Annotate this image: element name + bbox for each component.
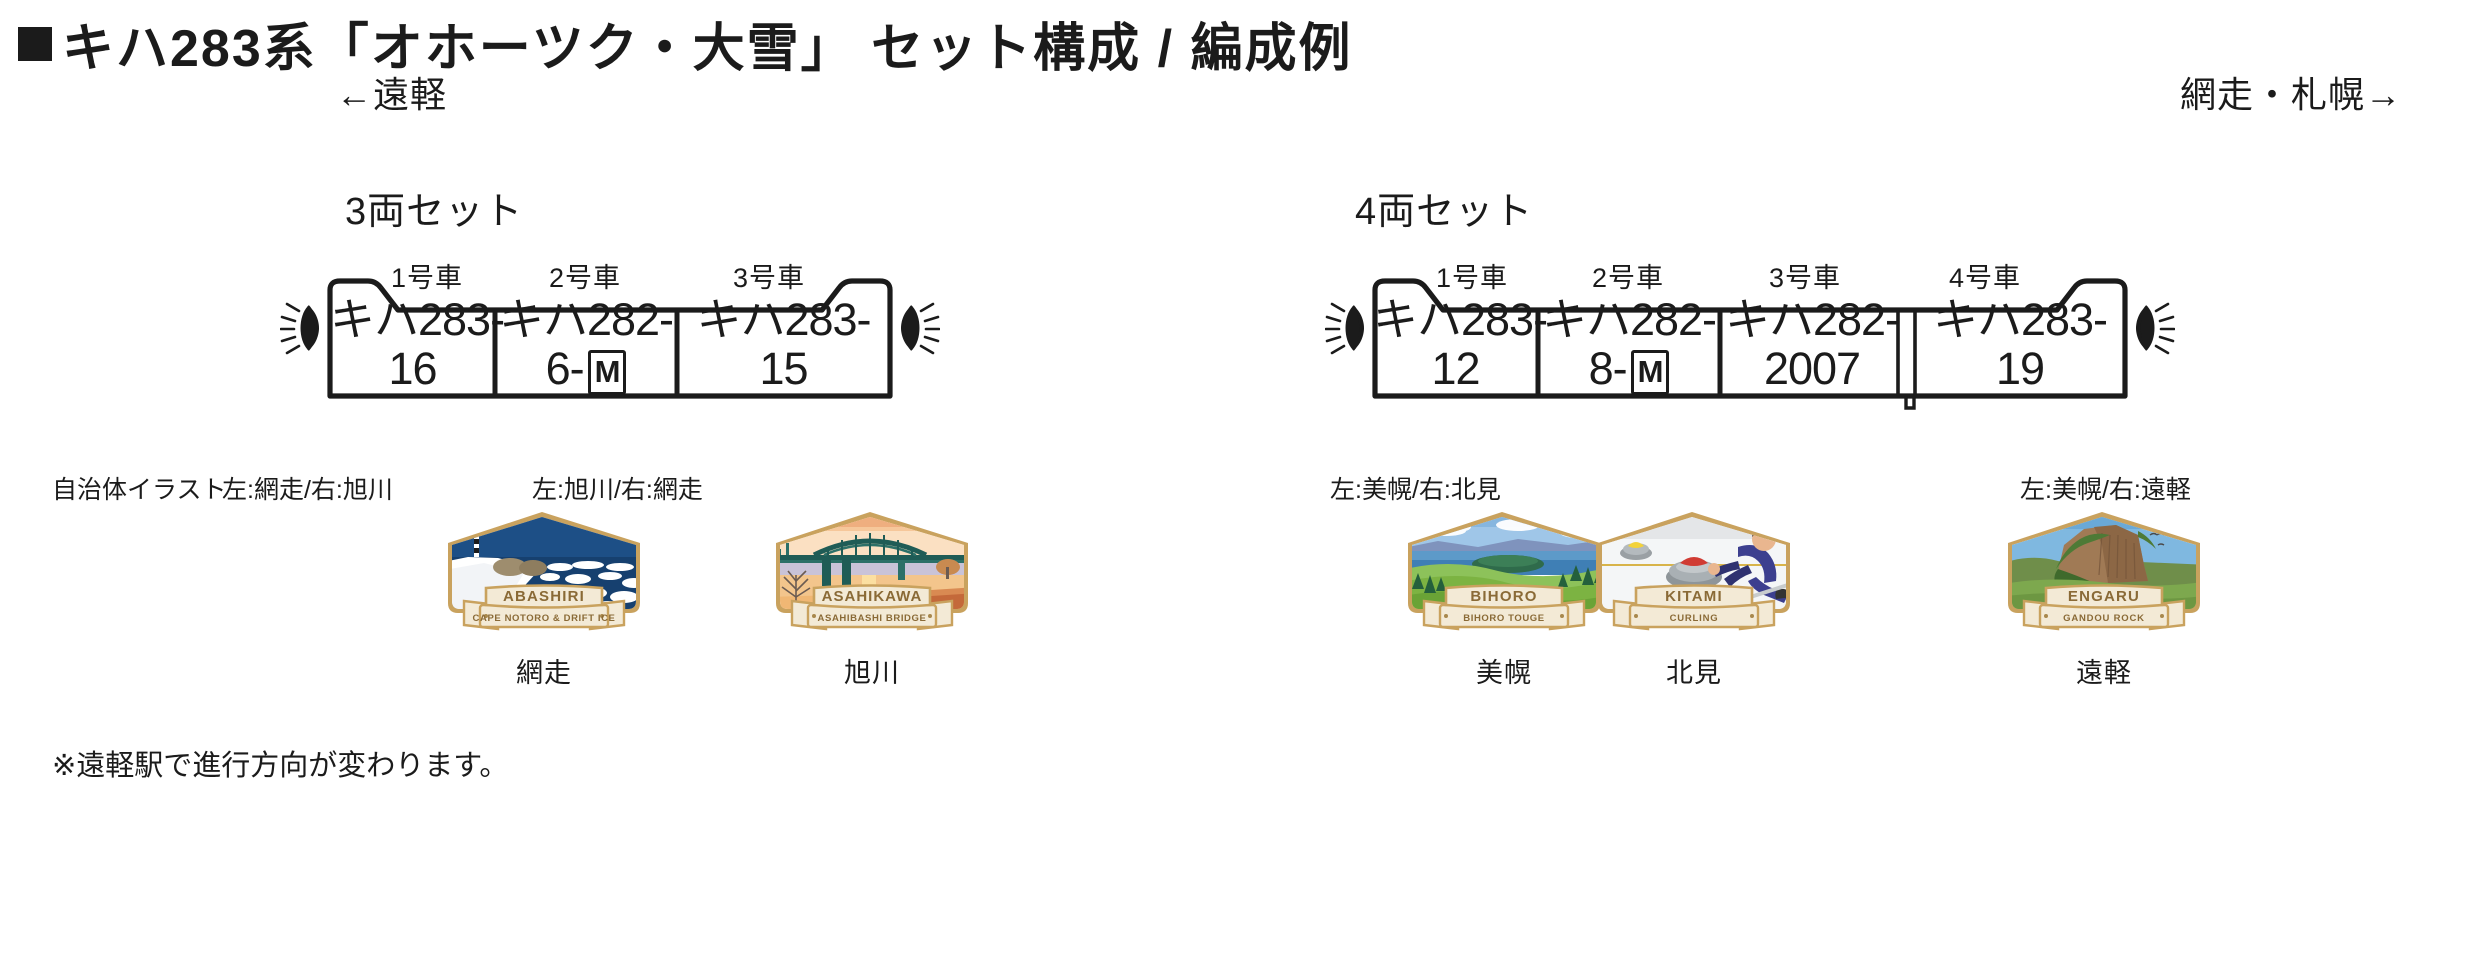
emblem-shield: BIHORO TOUGE BIHORO	[1398, 505, 1610, 640]
emblem-abashiri: CAPE NOTORO & DRIFT ICE ABASHIRI 網走	[438, 505, 650, 640]
car-type-label: キハ283- 15	[677, 296, 890, 393]
set-title-4car: 4両セット	[1355, 180, 1533, 235]
side-label-4: 左:美幌/右:遠軽	[2020, 470, 2191, 506]
emblem-subtitle-en: ASAHIBASHI BRIDGE	[818, 613, 927, 624]
emblem-caption-jp: 網走	[438, 651, 650, 690]
car-serial-number: 6	[546, 343, 570, 394]
car-number-label: 3号車	[1740, 256, 1870, 295]
emblem-artwork: CURLING KITAMI	[1588, 505, 1800, 640]
emblem-caption-jp: 旭川	[766, 651, 978, 690]
side-label-2: 左:旭川/右:網走	[532, 470, 703, 506]
train-diagram-4car: 1号車 2号車 3号車 4号車 キハ283- 12 キハ282- 8-M キハ2…	[1325, 250, 2175, 410]
headlight-icon-left	[281, 304, 319, 353]
car-type-line1: キハ283-	[696, 294, 870, 345]
emblem-artwork: CAPE NOTORO & DRIFT ICE ABASHIRI	[438, 505, 650, 640]
car-number-label: 2号車	[1563, 256, 1693, 295]
car-type-label: キハ282- 8-M	[1538, 296, 1720, 395]
car-serial-line2: 8-M	[1538, 345, 1720, 395]
title-bullet-icon	[18, 27, 52, 61]
headlight-icon-right	[2136, 304, 2174, 353]
emblem-caption-jp: 遠軽	[1998, 651, 2210, 690]
direction-label-left: ←遠軽	[336, 66, 447, 118]
emblem-artwork: GANDOU ROCK ENGARU	[1998, 505, 2210, 640]
car-type-label: キハ282- 6-M	[495, 296, 677, 395]
emblem-engaru: GANDOU ROCK ENGARU 遠軽	[1998, 505, 2210, 640]
title-text: キハ283系「オホーツク・大雪」 セット構成 / 編成例	[62, 6, 1352, 81]
emblem-asahikawa: ASAHIBASHI BRIDGE ASAHIKAWA 旭川	[766, 505, 978, 640]
motor-badge: M	[588, 350, 627, 395]
car-type-label: キハ283- 12	[1373, 296, 1538, 393]
side-label-1: 左:網走/右:旭川	[222, 470, 393, 506]
direction-label-right: 網走・札幌→	[2180, 66, 2402, 118]
emblem-shield: CURLING KITAMI	[1588, 505, 1800, 640]
car-serial-number: 8	[1589, 343, 1613, 394]
car-serial-line2: 16	[330, 345, 495, 392]
motor-badge: M	[1631, 350, 1670, 395]
side-label-3: 左:美幌/右:北見	[1330, 470, 1501, 506]
car-number-label: 1号車	[1407, 256, 1537, 295]
emblem-name-en: BIHORO	[1470, 588, 1537, 605]
set-title-3car: 3両セット	[345, 180, 523, 235]
emblem-bihoro: BIHORO TOUGE BIHORO 美幌	[1398, 505, 1610, 640]
car-number-label: 1号車	[362, 256, 492, 295]
emblem-shield: ASAHIBASHI BRIDGE ASAHIKAWA	[766, 505, 978, 640]
car-type-line1: キハ283-	[1373, 294, 1547, 345]
car-number-label: 2号車	[520, 256, 650, 295]
emblem-caption-jp: 北見	[1588, 651, 1800, 690]
emblem-shield: CAPE NOTORO & DRIFT ICE ABASHIRI	[438, 505, 650, 640]
car-serial-line2: 12	[1373, 345, 1538, 392]
emblem-subtitle-en: GANDOU ROCK	[2063, 613, 2145, 624]
car-type-line1: キハ282-	[499, 294, 673, 345]
train-diagram-3car: 1号車 2号車 3号車 キハ283- 16 キハ282- 6-M キハ283- …	[280, 250, 940, 400]
car-number-label: 3号車	[704, 256, 834, 295]
emblem-name-en: ENGARU	[2068, 588, 2140, 605]
emblem-caption-jp: 美幌	[1398, 651, 1610, 690]
emblem-subtitle-en: CURLING	[1670, 613, 1719, 624]
car-serial-line2: 2007	[1717, 345, 1907, 392]
car-type-line1: キハ283-	[1933, 294, 2107, 345]
headlight-icon-right	[901, 304, 939, 353]
car-type-line1: キハ283-	[330, 294, 504, 345]
emblem-subtitle-en: CAPE NOTORO & DRIFT ICE	[473, 613, 616, 624]
page-title: キハ283系「オホーツク・大雪」 セット構成 / 編成例	[18, 6, 1352, 81]
car-serial-line2: 6-M	[495, 345, 677, 395]
car-number-label: 4号車	[1920, 256, 2050, 295]
emblem-name-en: ABASHIRI	[503, 588, 585, 605]
emblem-kitami: CURLING KITAMI 北見	[1588, 505, 1800, 640]
headlight-icon-left	[1326, 304, 1364, 353]
car-type-label: キハ282- 2007	[1717, 296, 1907, 393]
car-serial-line2: 15	[677, 345, 890, 392]
emblem-subtitle-en: BIHORO TOUGE	[1463, 613, 1544, 624]
car-type-label: キハ283- 19	[1915, 296, 2125, 393]
emblem-artwork: ASAHIBASHI BRIDGE ASAHIKAWA	[766, 505, 978, 640]
illustration-row-heading: 自治体イラスト	[52, 470, 227, 506]
footnote: ※遠軽駅で進行方向が変わります。	[52, 742, 508, 784]
emblem-name-en: KITAMI	[1665, 588, 1723, 605]
car-serial-line2: 19	[1915, 345, 2125, 392]
car-type-line1: キハ282-	[1542, 294, 1716, 345]
emblem-name-en: ASAHIKAWA	[822, 588, 923, 605]
car-type-label: キハ283- 16	[330, 296, 495, 393]
car-type-line1: キハ282-	[1725, 294, 1899, 345]
emblem-artwork: BIHORO TOUGE BIHORO	[1398, 505, 1610, 640]
emblem-shield: GANDOU ROCK ENGARU	[1998, 505, 2210, 640]
